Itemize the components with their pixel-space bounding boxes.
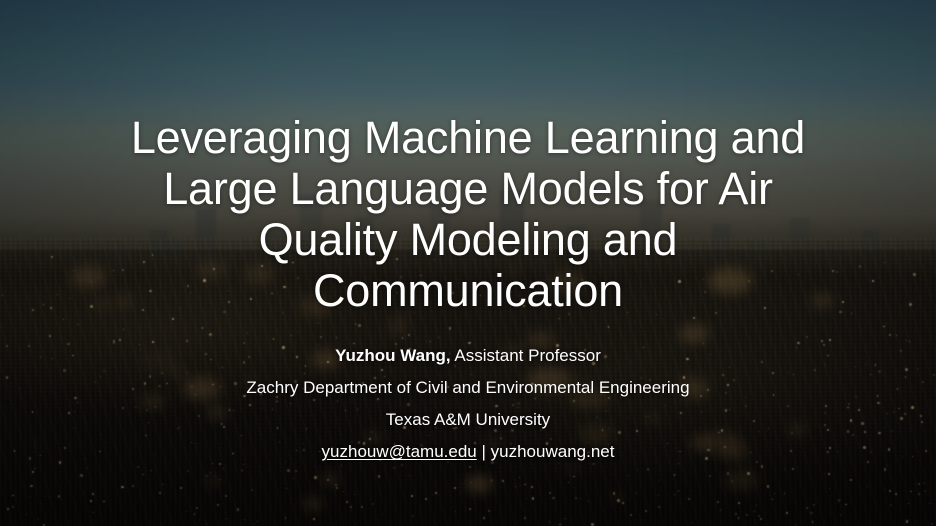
email-link[interactable]: yuzhouw@tamu.edu <box>322 442 477 461</box>
presenter-name: Yuzhou Wang, <box>335 346 451 365</box>
title-line-2: Large Language Models for Air <box>60 163 876 214</box>
contact-separator: | <box>477 442 491 461</box>
title-line-4: Communication <box>60 265 876 316</box>
contact-line: yuzhouw@tamu.edu | yuzhouwang.net <box>40 436 896 468</box>
page-title: Leveraging Machine Learning and Large La… <box>60 112 876 316</box>
department-line: Zachry Department of Civil and Environme… <box>40 372 896 404</box>
title-line-1: Leveraging Machine Learning and <box>60 112 876 163</box>
title-slide: Leveraging Machine Learning and Large La… <box>0 0 936 526</box>
presenter-role: Assistant Professor <box>451 346 601 365</box>
institution-line: Texas A&M University <box>40 404 896 436</box>
slide-content: Leveraging Machine Learning and Large La… <box>0 0 936 526</box>
presenter-byline: Yuzhou Wang, Assistant Professor Zachry … <box>40 340 896 468</box>
presenter-line: Yuzhou Wang, Assistant Professor <box>40 340 896 372</box>
website-text: yuzhouwang.net <box>491 442 615 461</box>
title-line-3: Quality Modeling and <box>60 214 876 265</box>
